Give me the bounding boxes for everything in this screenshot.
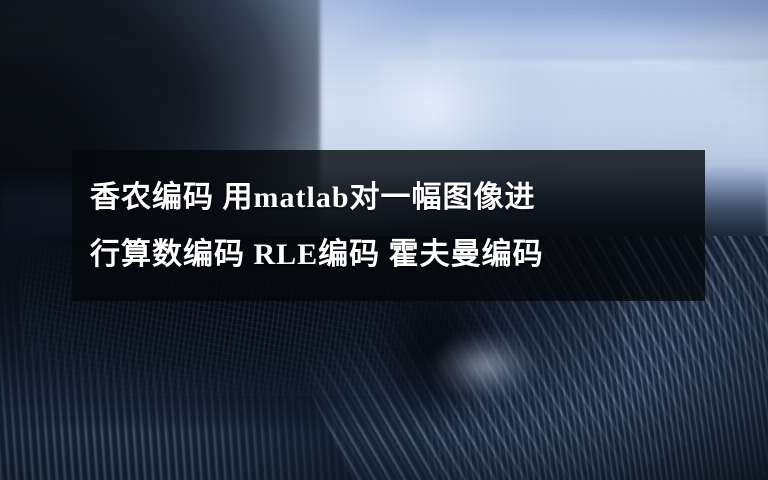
caption-line-2: 行算数编码 RLE编码 霍夫曼编码 [90,226,544,283]
crater-steam-puff [430,331,540,401]
caption-overlay-band: 香农编码 用matlab对一幅图像进 行算数编码 RLE编码 霍夫曼编码 [72,150,705,301]
screenshot-canvas: 香农编码 用matlab对一幅图像进 行算数编码 RLE编码 霍夫曼编码 [0,0,768,480]
caption-line-1: 香农编码 用matlab对一幅图像进 [90,169,536,226]
